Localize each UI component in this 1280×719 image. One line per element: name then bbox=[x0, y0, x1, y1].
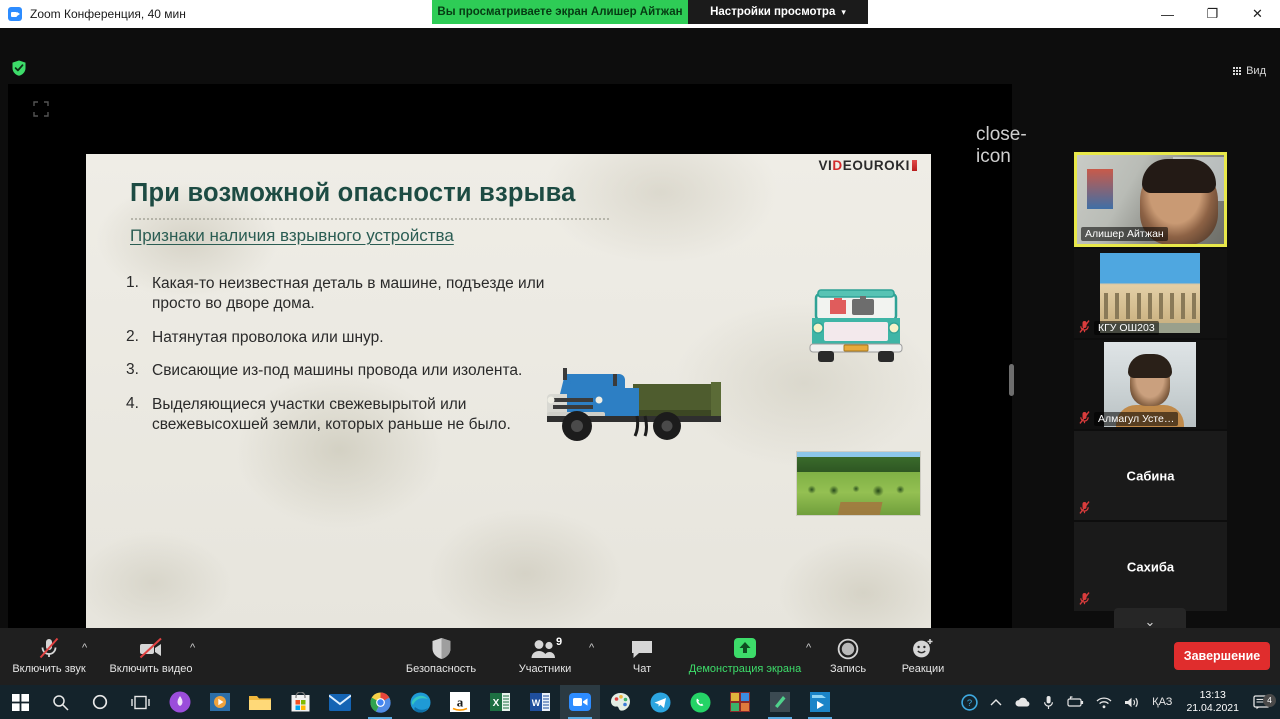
end-meeting-button[interactable]: Завершение bbox=[1174, 642, 1270, 670]
list-item-number: 2. bbox=[126, 328, 152, 348]
view-layout-button[interactable]: Вид bbox=[1227, 61, 1272, 80]
close-icon[interactable]: close-icon bbox=[976, 124, 998, 146]
participant-name: Сабина bbox=[1123, 467, 1179, 484]
security-label: Безопасность bbox=[406, 663, 476, 675]
list-item: 1. Какая-то неизвестная деталь в машине,… bbox=[126, 274, 556, 314]
taskbar-item-mail[interactable] bbox=[320, 685, 360, 719]
countryside-field-photo bbox=[796, 451, 921, 516]
close-button[interactable]: ✕ bbox=[1235, 0, 1280, 28]
unmute-label: Включить звук bbox=[12, 663, 85, 675]
slide-list: 1. Какая-то неизвестная деталь в машине,… bbox=[126, 274, 556, 449]
taskbar-item-movies[interactable] bbox=[800, 685, 840, 719]
view-options-button[interactable]: Настройки просмотра ▾ bbox=[688, 0, 868, 24]
zoom-title-bar: Zoom Конференция, 40 мин — ❐ ✕ Вы просма… bbox=[0, 0, 1280, 28]
share-resize-handle[interactable] bbox=[1009, 364, 1014, 396]
clock-date: 21.04.2021 bbox=[1186, 702, 1239, 715]
shield-icon bbox=[431, 634, 452, 660]
list-item: 3. Свисающие из-под машины провода или и… bbox=[126, 361, 556, 381]
svg-text:a: a bbox=[457, 695, 464, 710]
taskbar-item-store[interactable] bbox=[280, 685, 320, 719]
audio-options-caret[interactable]: ^ bbox=[82, 642, 87, 654]
task-view-icon[interactable] bbox=[120, 685, 160, 719]
list-item-text: Какая-то неизвестная деталь в машине, по… bbox=[152, 274, 556, 314]
taskbar-item-paint[interactable] bbox=[600, 685, 640, 719]
start-video-label: Включить видео bbox=[109, 663, 192, 675]
teal-car-rear-illustration bbox=[808, 288, 904, 366]
photo-hills bbox=[797, 457, 920, 473]
view-button-label: Вид bbox=[1246, 65, 1266, 77]
blue-truck-illustration bbox=[541, 354, 726, 454]
clock-time: 13:13 bbox=[1200, 689, 1226, 702]
record-label: Запись bbox=[830, 663, 866, 675]
shared-screen-area: close-icon VIDEOUROKI При возможной опас… bbox=[8, 84, 1012, 646]
chat-bubble-icon bbox=[630, 634, 654, 660]
participants-options-caret[interactable]: ^ bbox=[589, 642, 594, 654]
list-item: 4. Выделяющиеся участки свежевырытой или… bbox=[126, 395, 556, 435]
videouroki-logo: VIDEOUROKI bbox=[818, 158, 917, 173]
mic-muted-icon bbox=[37, 634, 61, 660]
participant-name: Алишер Айтжан bbox=[1081, 227, 1168, 241]
maximize-button[interactable]: ❐ bbox=[1190, 0, 1235, 28]
taskbar-item-edge[interactable] bbox=[400, 685, 440, 719]
svg-text:W: W bbox=[532, 698, 541, 708]
svg-text:?: ? bbox=[967, 698, 972, 709]
logo-mark-icon bbox=[912, 160, 917, 171]
chat-label: Чат bbox=[633, 663, 651, 675]
video-person-hair bbox=[1128, 354, 1172, 378]
view-options-label: Настройки просмотра bbox=[710, 6, 835, 18]
list-item: 2. Натянутая проволока или шнур. bbox=[126, 328, 556, 348]
cortana-circle-icon[interactable] bbox=[80, 685, 120, 719]
camera-muted-icon bbox=[138, 634, 164, 660]
participant-tile-0[interactable]: Алишер Айтжан bbox=[1074, 152, 1227, 247]
list-item-number: 3. bbox=[126, 361, 152, 381]
participant-name: КГУ ОШ203 bbox=[1094, 321, 1159, 335]
search-icon[interactable] bbox=[40, 685, 80, 719]
participants-label: Участники bbox=[519, 663, 572, 675]
list-item-text: Выделяющиеся участки свежевырытой или св… bbox=[152, 395, 556, 435]
presentation-slide: VIDEOUROKI При возможной опасности взрыв… bbox=[86, 154, 931, 631]
participants-count-badge: 9 bbox=[556, 636, 562, 648]
taskbar-item-evernote[interactable] bbox=[760, 685, 800, 719]
help-circle-icon[interactable]: ? bbox=[955, 694, 984, 711]
participant-name: Сахиба bbox=[1123, 558, 1178, 575]
mic-muted-icon bbox=[1079, 592, 1090, 605]
screen-root: Zoom Конференция, 40 мин — ❐ ✕ Вы просма… bbox=[0, 0, 1280, 719]
zoom-control-bar: Включить звук ^ Включить видео ^ Безопа bbox=[0, 628, 1280, 685]
wifi-icon[interactable] bbox=[1090, 696, 1118, 709]
record-button[interactable]: Запись bbox=[805, 634, 891, 675]
participant-name: Алмагул Усте… bbox=[1094, 412, 1178, 426]
video-person-hair bbox=[1142, 159, 1216, 193]
participant-tile-3[interactable]: Сабина bbox=[1074, 431, 1227, 520]
minimize-button[interactable]: — bbox=[1145, 0, 1190, 28]
taskbar-item-media[interactable] bbox=[200, 685, 240, 719]
list-item-number: 1. bbox=[126, 274, 152, 314]
participant-tile-1[interactable]: КГУ ОШ203 bbox=[1074, 249, 1227, 338]
slide-subtitle: Признаки наличия взрывного устройства bbox=[130, 226, 454, 246]
system-tray: ? bbox=[955, 685, 1280, 719]
zoom-main-shell: Вид close-icon VIDEOUROKI При возмо bbox=[0, 28, 1280, 628]
window-buttons: — ❐ ✕ bbox=[1145, 0, 1280, 28]
microphone-icon[interactable] bbox=[1037, 695, 1060, 710]
video-windows bbox=[1104, 293, 1196, 319]
record-icon bbox=[837, 634, 859, 660]
taskbar-item-amazon[interactable]: a bbox=[440, 685, 480, 719]
onedrive-icon[interactable] bbox=[1008, 696, 1037, 708]
participant-tile-4[interactable]: Сахиба bbox=[1074, 522, 1227, 611]
slide-divider bbox=[130, 218, 610, 220]
reactions-button[interactable]: Реакции bbox=[880, 634, 966, 675]
logo-part1: VI bbox=[818, 158, 832, 173]
list-item-number: 4. bbox=[126, 395, 152, 435]
chevron-down-icon: ▾ bbox=[841, 7, 846, 18]
reactions-label: Реакции bbox=[902, 663, 945, 675]
list-item-text: Натянутая проволока или шнур. bbox=[152, 328, 384, 348]
window-title: Zoom Конференция, 40 мин bbox=[30, 7, 186, 21]
participants-button[interactable]: Участники bbox=[502, 634, 588, 675]
mic-muted-icon bbox=[1079, 411, 1090, 424]
share-screen-button[interactable]: Демонстрация экрана bbox=[672, 634, 818, 675]
taskbar-item-voice[interactable] bbox=[160, 685, 200, 719]
taskbar-item-whatsapp[interactable] bbox=[680, 685, 720, 719]
notification-icon[interactable]: 4 bbox=[1247, 695, 1280, 710]
exit-fullscreen-icon[interactable] bbox=[32, 100, 50, 118]
taskbar-item-word[interactable]: W bbox=[520, 685, 560, 719]
taskbar-item-app19[interactable] bbox=[720, 685, 760, 719]
notification-count: 4 bbox=[1263, 694, 1276, 707]
zoom-icon bbox=[8, 7, 22, 21]
start-video-button[interactable]: Включить видео bbox=[108, 634, 194, 675]
security-button[interactable]: Безопасность bbox=[398, 634, 484, 675]
share-screen-icon bbox=[732, 634, 758, 660]
share-screen-label: Демонстрация экрана bbox=[689, 663, 801, 675]
unmute-button[interactable]: Включить звук bbox=[6, 634, 92, 675]
grid-icon bbox=[1233, 67, 1241, 75]
photo-trees bbox=[797, 480, 920, 496]
slide-title: При возможной опасности взрыва bbox=[130, 179, 810, 208]
taskbar-item-telegram[interactable] bbox=[640, 685, 680, 719]
photo-dirt-patch bbox=[837, 502, 882, 516]
video-poster-bg bbox=[1087, 169, 1113, 209]
list-item-text: Свисающие из-под машины провода или изол… bbox=[152, 361, 522, 381]
svg-text:X: X bbox=[493, 698, 500, 709]
language-indicator[interactable]: ҚАЗ bbox=[1146, 696, 1178, 708]
windows-taskbar: a X W bbox=[0, 685, 1280, 719]
mic-muted-icon bbox=[1079, 320, 1090, 333]
taskbar-item-chrome[interactable] bbox=[360, 685, 400, 719]
taskbar-item-zoom[interactable] bbox=[560, 685, 600, 719]
start-button[interactable] bbox=[0, 685, 40, 719]
share-status-banner: Вы просматриваете экран Алишер Айтжан bbox=[432, 0, 688, 24]
speaker-icon[interactable] bbox=[1118, 696, 1146, 709]
logo-part2: EOUROKI bbox=[843, 158, 910, 173]
logo-red-letter: D bbox=[832, 158, 842, 173]
participant-strip: Алишер Айтжан bbox=[1074, 152, 1227, 642]
mic-muted-icon bbox=[1079, 501, 1090, 514]
reactions-icon bbox=[911, 634, 935, 660]
taskbar-item-excel[interactable]: X bbox=[480, 685, 520, 719]
video-options-caret[interactable]: ^ bbox=[190, 642, 195, 654]
shield-check-icon[interactable] bbox=[10, 59, 28, 77]
participant-tile-2[interactable]: Алмагул Усте… bbox=[1074, 340, 1227, 429]
clock[interactable]: 13:13 21.04.2021 bbox=[1178, 689, 1247, 715]
taskbar-item-explorer[interactable] bbox=[240, 685, 280, 719]
chevron-up-icon[interactable] bbox=[984, 698, 1008, 707]
battery-icon[interactable] bbox=[1060, 696, 1090, 708]
